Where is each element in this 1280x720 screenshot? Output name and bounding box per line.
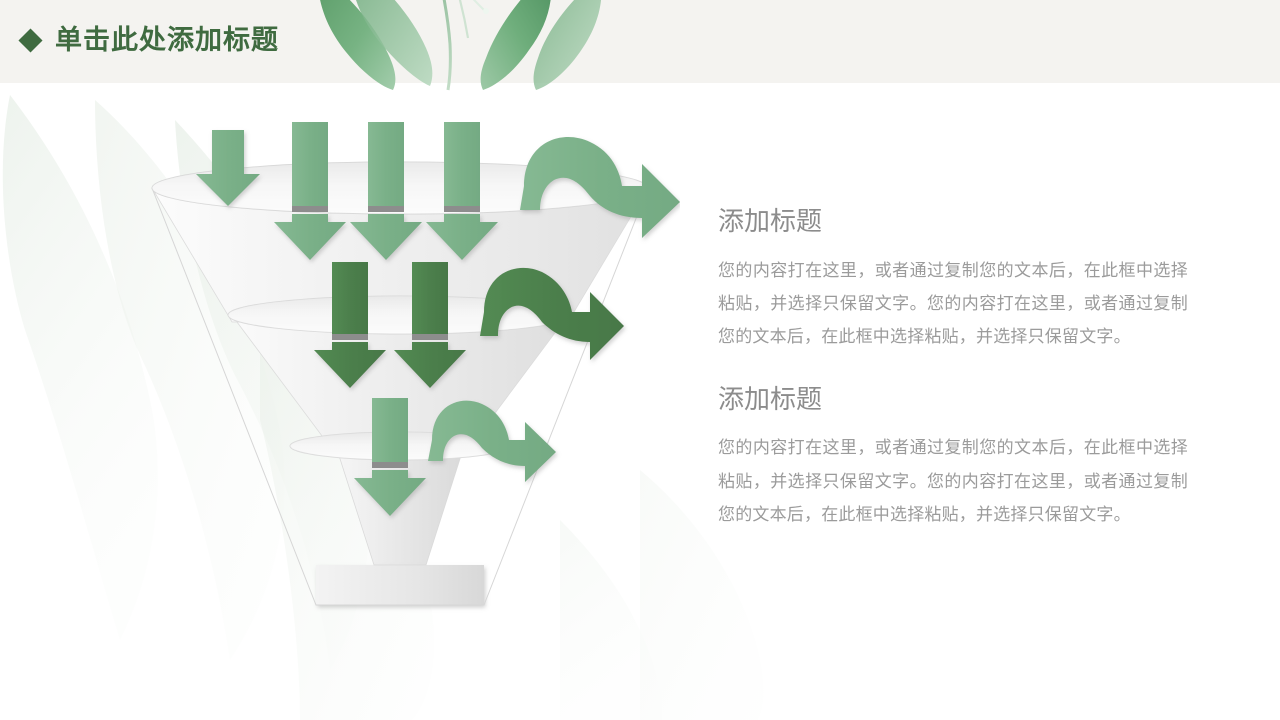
funnel-arrow-in-4 bbox=[444, 122, 480, 212]
funnel-arrow-in-5 bbox=[332, 262, 368, 340]
content-column: 添加标题 您的内容打在这里，或者通过复制您的文本后，在此框中选择粘贴，并选择只保… bbox=[718, 205, 1188, 531]
funnel-arrow-in-6 bbox=[412, 262, 448, 340]
diamond-icon bbox=[18, 28, 42, 52]
content-block-2-body: 您的内容打在这里，或者通过复制您的文本后，在此框中选择粘贴，并选择只保留文字。您… bbox=[718, 431, 1188, 530]
content-block-1-body: 您的内容打在这里，或者通过复制您的文本后，在此框中选择粘贴，并选择只保留文字。您… bbox=[718, 254, 1188, 353]
funnel-arrow-in-2 bbox=[292, 122, 328, 212]
funnel-arrow-in-7 bbox=[372, 398, 408, 468]
slide-canvas: 单击此处添加标题 bbox=[0, 0, 1280, 720]
content-block-2: 添加标题 您的内容打在这里，或者通过复制您的文本后，在此框中选择粘贴，并选择只保… bbox=[718, 383, 1188, 531]
funnel-diagram bbox=[120, 110, 680, 640]
funnel-body bbox=[152, 188, 648, 605]
page-title-text: 单击此处添加标题 bbox=[55, 27, 279, 54]
content-block-1-title: 添加标题 bbox=[718, 205, 1188, 238]
funnel-arrow-in-3 bbox=[368, 122, 404, 212]
page-title: 单击此处添加标题 bbox=[22, 27, 279, 54]
content-block-1: 添加标题 您的内容打在这里，或者通过复制您的文本后，在此框中选择粘贴，并选择只保… bbox=[718, 205, 1188, 353]
content-block-2-title: 添加标题 bbox=[718, 383, 1188, 416]
